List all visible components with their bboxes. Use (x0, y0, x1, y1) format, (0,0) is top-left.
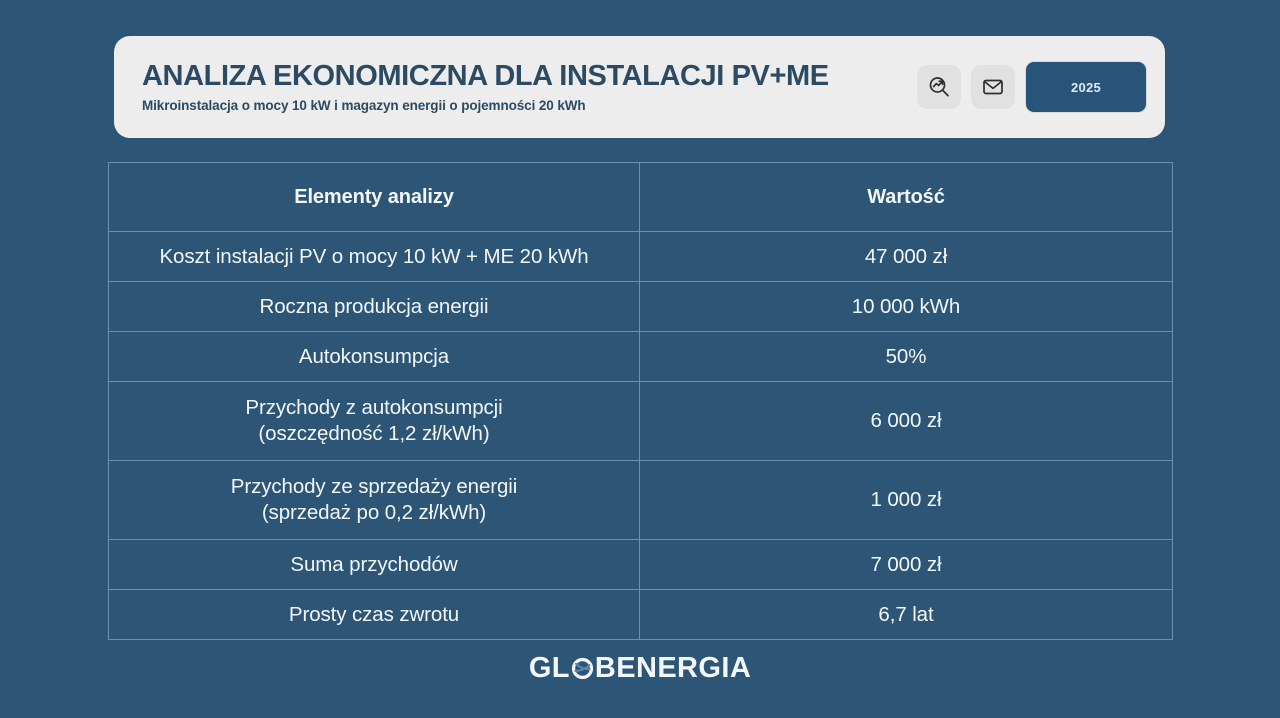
header-actions: 2025 (917, 61, 1147, 113)
search-trend-icon (927, 75, 951, 99)
row-value: 50% (640, 332, 1172, 381)
row-label-line1: Przychody ze sprzedaży energii (231, 474, 517, 500)
row-value: 47 000 zł (640, 232, 1172, 281)
year-button[interactable]: 2025 (1025, 61, 1147, 113)
logo-text-part2: BENERGIA (595, 652, 751, 685)
search-trend-button[interactable] (917, 65, 961, 109)
logo-text-part1: GL (529, 652, 570, 685)
column-header-value: Wartość (640, 163, 1172, 231)
table-row: Prosty czas zwrotu 6,7 lat (109, 590, 1172, 639)
table-row: Przychody z autokonsumpcji (oszczędność … (109, 382, 1172, 461)
envelope-button[interactable] (971, 65, 1015, 109)
row-label: Koszt instalacji PV o mocy 10 kW + ME 20… (109, 232, 640, 281)
globe-icon (570, 654, 595, 683)
row-label: Autokonsumpcja (109, 332, 640, 381)
year-button-label: 2025 (1071, 80, 1101, 95)
row-label: Przychody ze sprzedaży energii (sprzedaż… (109, 461, 640, 539)
table-row: Suma przychodów 7 000 zł (109, 540, 1172, 590)
column-header-elements: Elementy analizy (109, 163, 640, 231)
row-label: Suma przychodów (109, 540, 640, 589)
row-label: Przychody z autokonsumpcji (oszczędność … (109, 382, 640, 460)
table-row: Roczna produkcja energii 10 000 kWh (109, 282, 1172, 332)
page-title: ANALIZA EKONOMICZNA DLA INSTALACJI PV+ME (142, 61, 917, 92)
row-value: 10 000 kWh (640, 282, 1172, 331)
row-label-line2: (sprzedaż po 0,2 zł/kWh) (231, 500, 517, 526)
envelope-icon (981, 75, 1005, 99)
row-value: 6 000 zł (640, 382, 1172, 460)
header-text-block: ANALIZA EKONOMICZNA DLA INSTALACJI PV+ME… (132, 61, 917, 113)
table-row: Koszt instalacji PV o mocy 10 kW + ME 20… (109, 232, 1172, 282)
page-subtitle: Mikroinstalacja o mocy 10 kW i magazyn e… (142, 98, 917, 113)
row-value: 7 000 zł (640, 540, 1172, 589)
row-label-line1: Przychody z autokonsumpcji (245, 395, 502, 421)
header-card: ANALIZA EKONOMICZNA DLA INSTALACJI PV+ME… (114, 36, 1165, 138)
row-value: 6,7 lat (640, 590, 1172, 639)
table-row: Przychody ze sprzedaży energii (sprzedaż… (109, 461, 1172, 540)
row-value: 1 000 zł (640, 461, 1172, 539)
row-label-line2: (oszczędność 1,2 zł/kWh) (245, 421, 502, 447)
footer-logo: GL BENERGIA (0, 652, 1280, 685)
row-label: Prosty czas zwrotu (109, 590, 640, 639)
table-header-row: Elementy analizy Wartość (109, 163, 1172, 232)
table-row: Autokonsumpcja 50% (109, 332, 1172, 382)
analysis-table: Elementy analizy Wartość Koszt instalacj… (108, 162, 1173, 640)
row-label: Roczna produkcja energii (109, 282, 640, 331)
